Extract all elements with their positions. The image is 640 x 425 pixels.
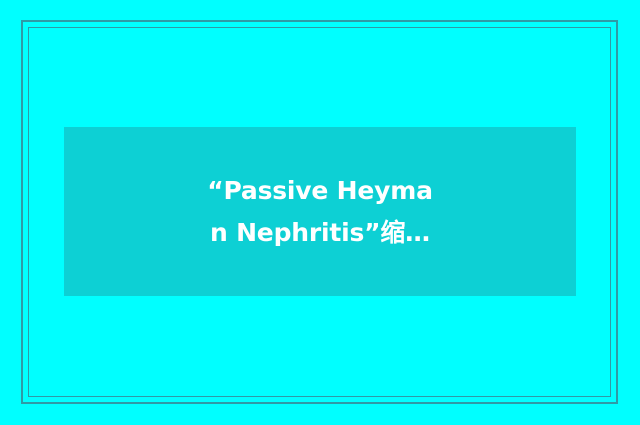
slide-canvas: “Passive Heyman Nephritis”缩… [0,0,640,425]
title-banner: “Passive Heyman Nephritis”缩… [64,127,576,296]
slide-title: “Passive Heyman Nephritis”缩… [205,170,435,254]
